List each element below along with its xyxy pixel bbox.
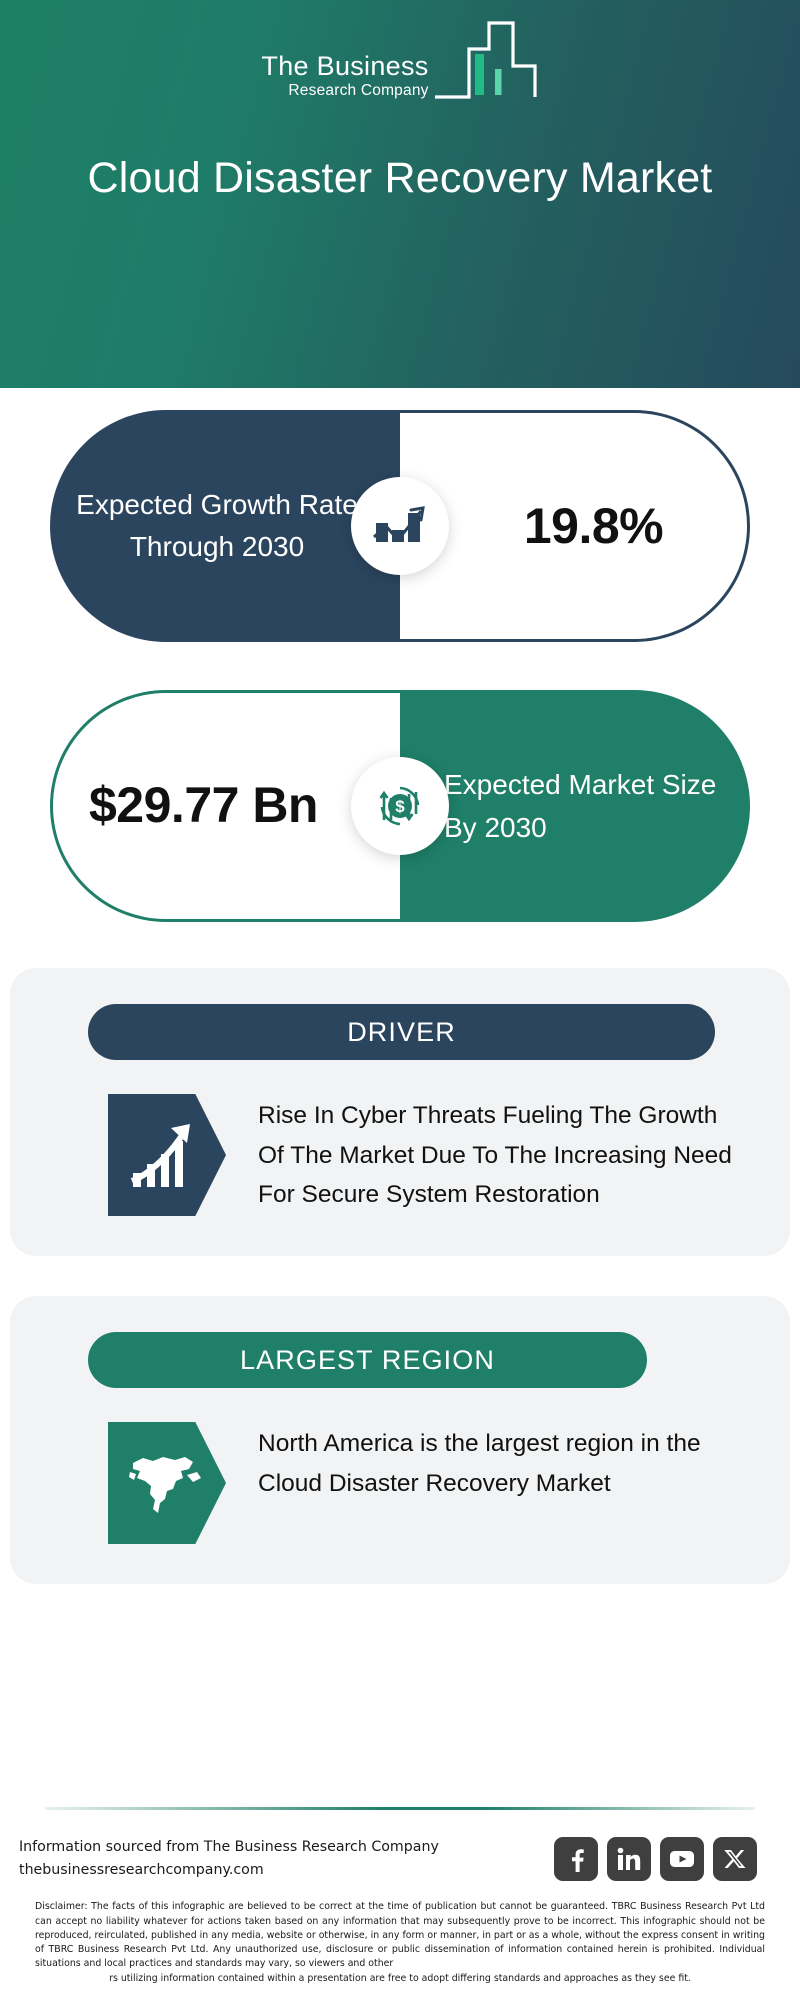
footer: Information sourced from The Business Re… (0, 1769, 800, 2000)
driver-text: Rise In Cyber Threats Fueling The Growth… (258, 1094, 738, 1215)
logo-text: The Business Research Company (261, 52, 428, 108)
market-size-label-panel: Expected Market Size By 2030 (400, 690, 750, 922)
source-credit: Information sourced from The Business Re… (19, 1836, 439, 1882)
disclaimer: Disclaimer: The facts of this infographi… (15, 1882, 785, 2000)
largest-region-body: North America is the largest region in t… (10, 1422, 790, 1544)
header-banner: The Business Research Company Cloud Disa… (0, 0, 800, 388)
disclaimer-last-line: rs utilizing information contained withi… (35, 1972, 765, 1986)
linkedin-icon[interactable] (607, 1837, 651, 1881)
largest-region-heading: LARGEST REGION (88, 1332, 647, 1388)
market-size-value-panel: $29.77 Bn (50, 690, 400, 922)
youtube-icon[interactable] (660, 1837, 704, 1881)
driver-heading: DRIVER (88, 1004, 715, 1060)
growth-rate-value-panel: 19.8% (400, 410, 750, 642)
driver-body: Rise In Cyber Threats Fueling The Growth… (10, 1094, 790, 1216)
logo-line-1: The Business (261, 52, 428, 80)
growth-chart-arrow-icon (351, 477, 449, 575)
social-links (554, 1837, 781, 1881)
logo-line-2: Research Company (288, 80, 428, 102)
growth-rate-label-panel: Expected Growth Rate Through 2030 (50, 410, 400, 642)
growth-rate-value: 19.8% (484, 497, 663, 555)
source-line-1: Information sourced from The Business Re… (19, 1836, 439, 1859)
rising-bar-chart-icon (108, 1094, 226, 1216)
x-twitter-icon[interactable] (713, 1837, 757, 1881)
disclaimer-main-text: Disclaimer: The facts of this infographi… (35, 1901, 765, 1969)
facebook-icon[interactable] (554, 1837, 598, 1881)
north-america-map-icon (108, 1422, 226, 1544)
largest-region-text: North America is the largest region in t… (258, 1422, 738, 1503)
market-size-value: $29.77 Bn (89, 772, 364, 840)
company-logo: The Business Research Company (261, 22, 538, 108)
market-size-label: Expected Market Size By 2030 (400, 763, 750, 850)
footer-row: Information sourced from The Business Re… (15, 1810, 785, 1882)
infographic-page: The Business Research Company Cloud Disa… (0, 0, 800, 2000)
panel-driver: DRIVER Rise In Cyber Threats Fueling The… (10, 968, 790, 1256)
bar-chart-logo-mark-icon (431, 17, 539, 108)
growth-rate-label: Expected Growth Rate Through 2030 (50, 484, 400, 568)
dollar-cycle-icon: $ (351, 757, 449, 855)
page-title: Cloud Disaster Recovery Market (80, 150, 720, 207)
stat-cards: Expected Growth Rate Through 2030 19.8% … (0, 388, 800, 922)
panel-largest-region: LARGEST REGION North America is the larg… (10, 1296, 790, 1584)
source-line-2[interactable]: thebusinessresearchcompany.com (19, 1859, 439, 1882)
stat-card-growth-rate: Expected Growth Rate Through 2030 19.8% (50, 410, 750, 642)
stat-card-market-size: $29.77 Bn Expected Market Size By 2030 (50, 690, 750, 922)
svg-text:$: $ (395, 797, 405, 816)
